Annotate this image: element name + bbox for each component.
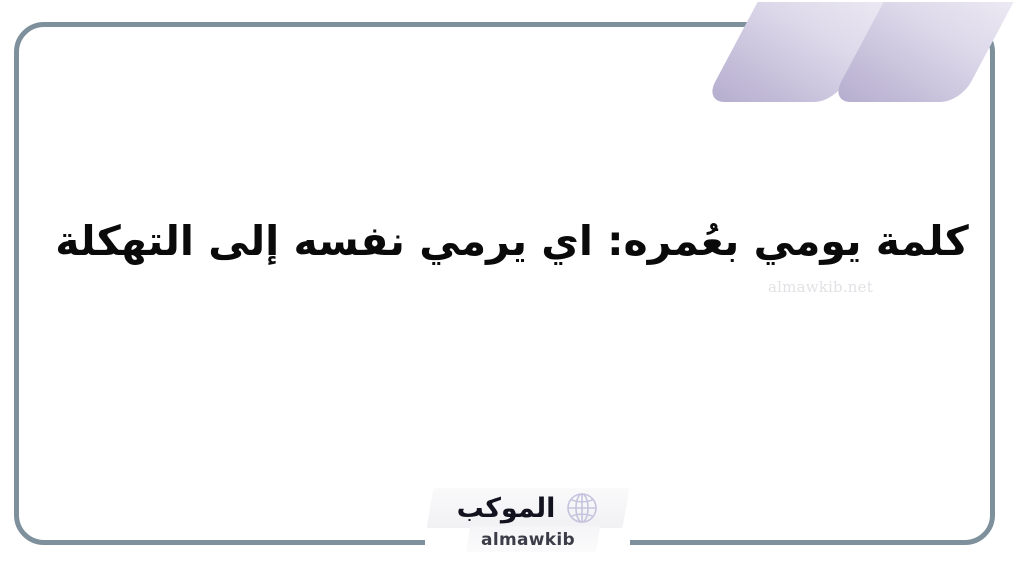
quotation-mark-decoration	[715, 0, 1005, 105]
globe-icon	[565, 491, 599, 525]
brand-name-arabic: الموكب	[457, 495, 556, 522]
quote-card: كلمة يومي بعُمره: اي يرمي نفسه إلى التهك…	[0, 0, 1024, 576]
page-title: كلمة يومي بعُمره: اي يرمي نفسه إلى التهك…	[55, 214, 968, 269]
brand-logo[interactable]: الموكب almawkib	[424, 486, 632, 558]
headline-container: كلمة يومي بعُمره: اي يرمي نفسه إلى التهك…	[0, 196, 1024, 288]
brand-name-latin: almawkib	[424, 530, 632, 550]
logo-primary-row: الموكب	[424, 486, 632, 530]
site-watermark: almawkib.net	[768, 278, 873, 296]
